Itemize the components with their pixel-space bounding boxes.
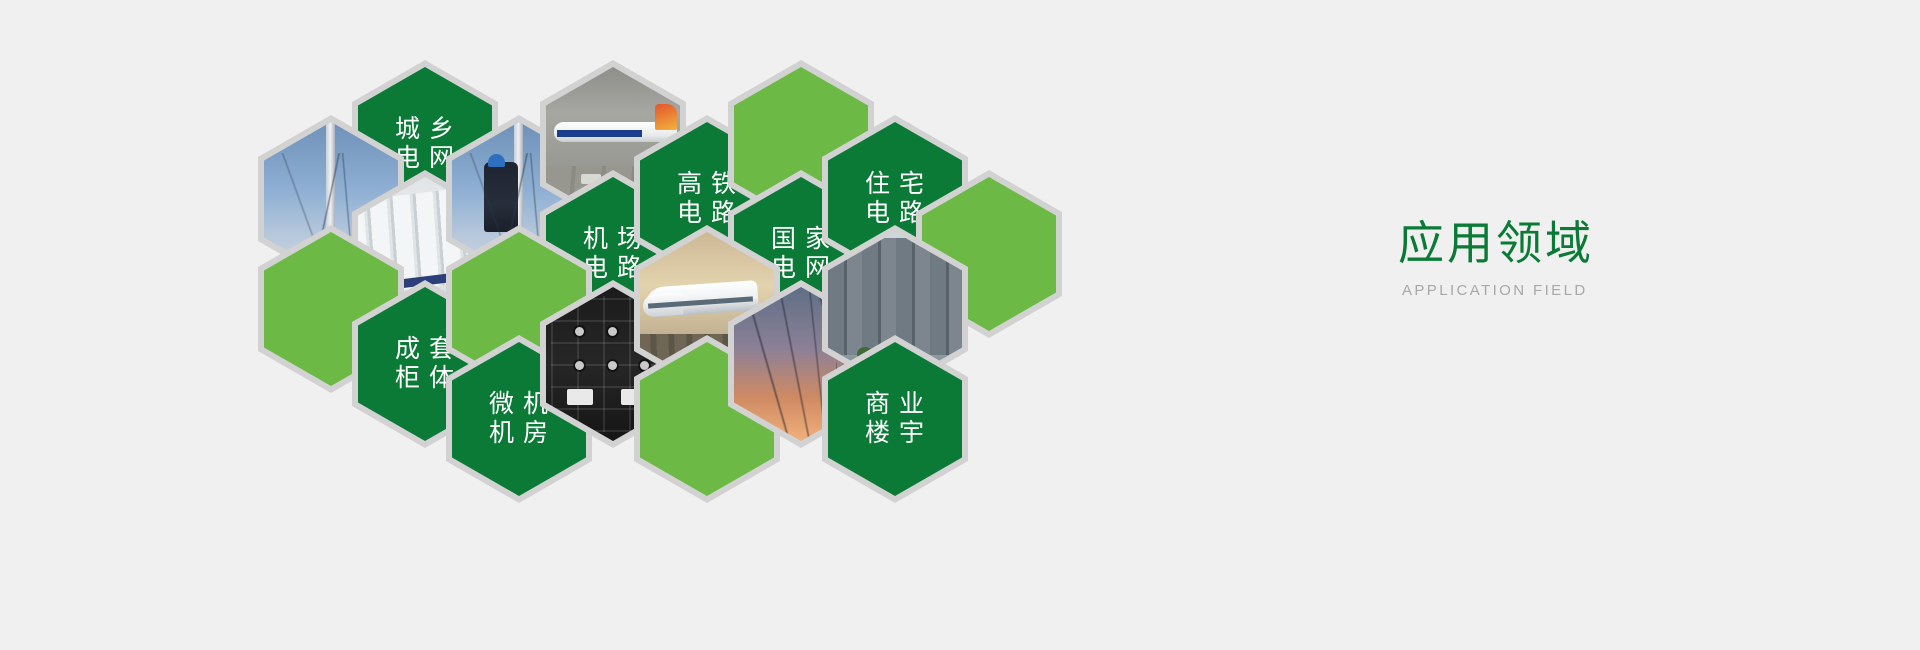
- hex-face-shang-ye-lou-yu: 商 业楼 宇: [828, 342, 962, 496]
- hex-cell-shang-ye-lou-yu[interactable]: 商 业楼 宇: [822, 335, 968, 503]
- panel-nameplate: [567, 389, 593, 405]
- page-title: 应用领域: [1398, 218, 1858, 269]
- hex-label-shang-ye-lou-yu: 商 业楼 宇: [865, 390, 925, 449]
- page-subtitle: APPLICATION FIELD: [1402, 282, 1858, 299]
- hexagon-honeycomb: 城 乡电 网机 场电 路高 铁电 路国 家电 网住 宅电 路成 套柜 体微 机机…: [0, 0, 1320, 650]
- panel-indicator: [608, 361, 617, 370]
- panel-indicator: [608, 327, 617, 336]
- title-block: 应用领域 APPLICATION FIELD: [1398, 218, 1858, 299]
- aircraft-livery-stripe: [557, 130, 643, 137]
- application-field-banner: 城 乡电 网机 场电 路高 铁电 路国 家电 网住 宅电 路成 套柜 体微 机机…: [0, 0, 1920, 650]
- hex-label-line: 楼 宇: [865, 419, 925, 449]
- lineman-helmet: [488, 154, 505, 167]
- lineman-figure: [484, 162, 518, 232]
- hex-label-line: 商 业: [865, 390, 925, 420]
